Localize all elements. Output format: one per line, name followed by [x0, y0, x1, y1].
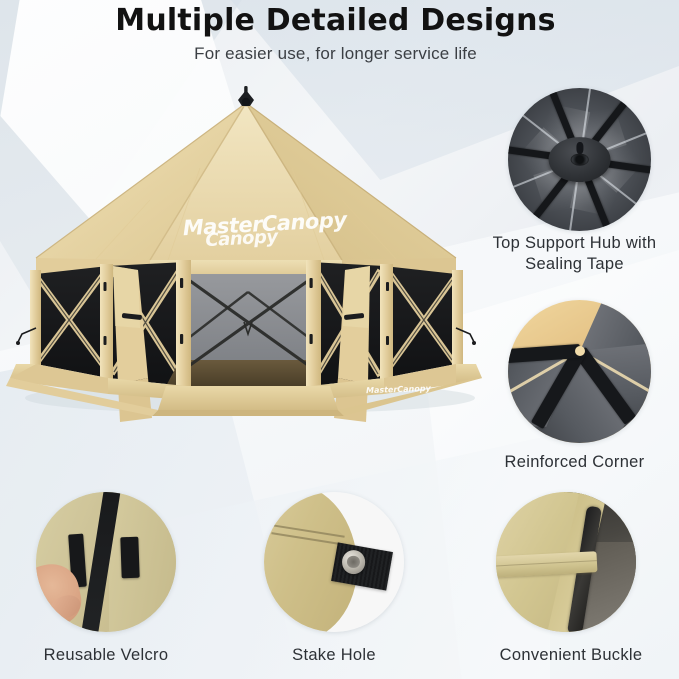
- feature-label-line1: Stake Hole: [244, 645, 424, 666]
- feature-label-reusable-velcro: Reusable Velcro: [16, 645, 196, 666]
- buckle-strap-seam: [496, 560, 597, 567]
- feature-circle-reinforced-corner[interactable]: [508, 300, 651, 443]
- feature-label-convenient-buckle: Convenient Buckle: [476, 645, 666, 666]
- stake-hole-grommet-hole: [347, 556, 359, 568]
- reusable-velcro-image: [36, 492, 176, 632]
- stake-hole-grommet: [342, 550, 366, 574]
- product-canopy-illustration: MasterCanopy Canopy: [0, 78, 492, 428]
- convenient-buckle-image: [496, 492, 636, 632]
- feature-label-line1: Reusable Velcro: [16, 645, 196, 666]
- top-support-hub-image: [508, 88, 651, 231]
- feature-label-stake-hole: Stake Hole: [244, 645, 424, 666]
- feature-circle-top-support-hub[interactable]: [508, 88, 651, 231]
- velcro-fabric-right: [109, 492, 176, 632]
- feature-label-line1: Top Support Hub with: [470, 233, 679, 254]
- hub-top-nub: [576, 142, 583, 153]
- page-subtitle: For easier use, for longer service life: [0, 44, 671, 64]
- feature-label-top-support-hub: Top Support Hub with Sealing Tape: [470, 233, 679, 275]
- page-title: Multiple Detailed Designs: [0, 4, 671, 38]
- reinforced-corner-image: [508, 300, 651, 443]
- feature-label-line1: Convenient Buckle: [476, 645, 666, 666]
- feature-label-reinforced-corner: Reinforced Corner: [470, 452, 679, 473]
- feature-label-line1: Reinforced Corner: [470, 452, 679, 473]
- feature-circle-stake-hole[interactable]: [264, 492, 404, 632]
- header: Multiple Detailed Designs For easier use…: [0, 0, 679, 80]
- feature-circle-convenient-buckle[interactable]: [496, 492, 636, 632]
- stake-hole-image: [264, 492, 404, 632]
- hub-center-screw: [570, 153, 589, 166]
- velcro-strip-right: [121, 536, 141, 577]
- infographic-stage: Multiple Detailed Designs For easier use…: [0, 0, 679, 679]
- canopy-svg: [0, 78, 492, 428]
- corner-center-point: [575, 346, 585, 356]
- feature-circle-reusable-velcro[interactable]: [36, 492, 176, 632]
- feature-label-line2: Sealing Tape: [470, 254, 679, 275]
